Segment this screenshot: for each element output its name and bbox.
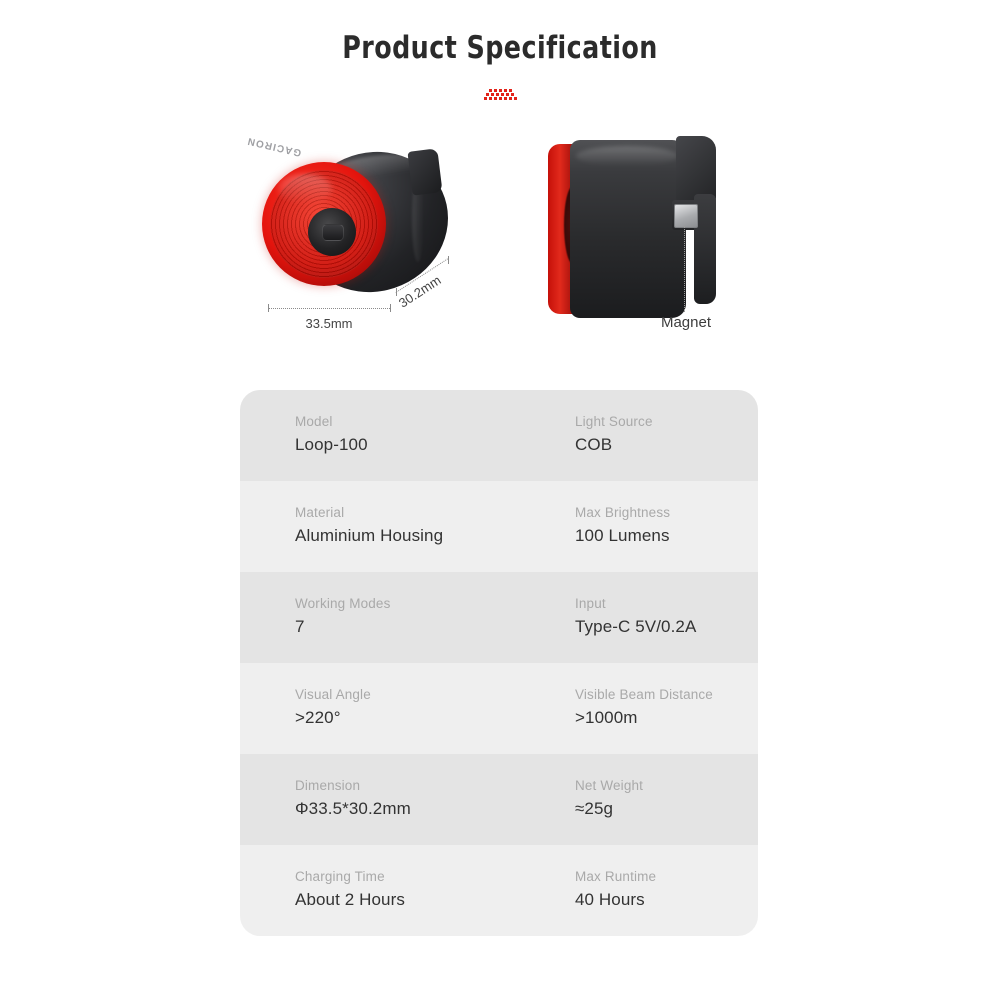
- spec-cell: Working Modes7: [240, 594, 520, 663]
- spec-cell: ModelLoop-100: [240, 412, 520, 481]
- ornament-dot: [489, 89, 492, 92]
- spec-label: Model: [295, 412, 520, 432]
- spec-cell: Visual Angle>220°: [240, 685, 520, 754]
- ornament-dot: [514, 97, 517, 100]
- depth-dimension-tick-near: [396, 288, 397, 296]
- spec-value: 100 Lumens: [575, 523, 758, 549]
- product-image-side-view: Magnet: [548, 134, 748, 324]
- spec-row: Charging TimeAbout 2 HoursMax Runtime40 …: [240, 845, 758, 936]
- spec-label: Light Source: [575, 412, 758, 432]
- spec-row: DimensionΦ33.5*30.2mmNet Weight≈25g: [240, 754, 758, 845]
- spec-value: Type-C 5V/0.2A: [575, 614, 758, 640]
- width-dimension-tick-right: [390, 304, 391, 312]
- ornament-dot: [511, 93, 514, 96]
- ornament-dot: [484, 97, 487, 100]
- ornament-dot: [504, 89, 507, 92]
- spec-cell: MaterialAluminium Housing: [240, 503, 520, 572]
- spec-value: Loop-100: [295, 432, 520, 458]
- spec-label: Dimension: [295, 776, 520, 796]
- spec-row: Visual Angle>220°Visible Beam Distance>1…: [240, 663, 758, 754]
- spec-value: Φ33.5*30.2mm: [295, 796, 520, 822]
- spec-row: ModelLoop-100Light SourceCOB: [240, 390, 758, 481]
- ornament-dot: [491, 93, 494, 96]
- ornament-dot-row: [484, 97, 517, 100]
- magnet-callout-label: Magnet: [636, 314, 736, 331]
- spec-value: 7: [295, 614, 520, 640]
- spec-cell: Max Runtime40 Hours: [520, 867, 758, 936]
- ornament-dot: [501, 93, 504, 96]
- spec-value: Aluminium Housing: [295, 523, 520, 549]
- brand-logo-text: GACIRON: [246, 135, 303, 158]
- spec-label: Working Modes: [295, 594, 520, 614]
- ornament-dot-row: [489, 89, 512, 92]
- magnet-leader-line: [684, 226, 686, 312]
- spec-cell: Net Weight≈25g: [520, 776, 758, 845]
- width-dimension-line: [268, 308, 390, 310]
- spec-value: >220°: [295, 705, 520, 731]
- spec-cell: DimensionΦ33.5*30.2mm: [240, 776, 520, 845]
- spec-cell: Visible Beam Distance>1000m: [520, 685, 758, 754]
- specification-table: ModelLoop-100Light SourceCOBMaterialAlum…: [240, 390, 758, 936]
- ornament-dot-row: [486, 93, 514, 96]
- spec-value: COB: [575, 432, 758, 458]
- spec-label: Visible Beam Distance: [575, 685, 758, 705]
- lens-gloss: [278, 174, 332, 204]
- side-body-highlight: [576, 146, 678, 166]
- width-dimension-label: 33.5mm: [268, 316, 390, 331]
- spec-row: Working Modes7InputType-C 5V/0.2A: [240, 572, 758, 663]
- ornament-dot: [509, 89, 512, 92]
- product-photo-stage: GACIRON 33.5mm 30.2mm Magnet: [0, 120, 1000, 370]
- spec-cell: Max Brightness100 Lumens: [520, 503, 758, 572]
- ornament-dot: [494, 97, 497, 100]
- ornament-dot: [486, 93, 489, 96]
- side-light-body: [570, 140, 686, 318]
- spec-label: Net Weight: [575, 776, 758, 796]
- spec-value: >1000m: [575, 705, 758, 731]
- lens-center-hub: [308, 208, 356, 256]
- spec-value: 40 Hours: [575, 887, 758, 913]
- red-dot-pyramid-ornament: [0, 89, 1000, 100]
- spec-label: Visual Angle: [295, 685, 520, 705]
- ornament-dot: [499, 89, 502, 92]
- bracket-upper: [676, 136, 716, 202]
- ornament-dot: [489, 97, 492, 100]
- page-title: Product Specification: [90, 30, 910, 66]
- spec-value: About 2 Hours: [295, 887, 520, 913]
- spec-label: Material: [295, 503, 520, 523]
- spec-label: Max Brightness: [575, 503, 758, 523]
- spec-cell: Light SourceCOB: [520, 412, 758, 481]
- ornament-dot: [496, 93, 499, 96]
- red-lens: [262, 162, 386, 286]
- magnet-chip: [674, 204, 698, 228]
- ornament-dot: [499, 97, 502, 100]
- spec-value: ≈25g: [575, 796, 758, 822]
- spec-label: Max Runtime: [575, 867, 758, 887]
- power-button-icon: [322, 224, 344, 241]
- spec-cell: InputType-C 5V/0.2A: [520, 594, 758, 663]
- ornament-dot: [494, 89, 497, 92]
- width-dimension-tick-left: [268, 304, 269, 312]
- spec-cell: Charging TimeAbout 2 Hours: [240, 867, 520, 936]
- mount-clip: [407, 148, 442, 195]
- spec-row: MaterialAluminium HousingMax Brightness1…: [240, 481, 758, 572]
- spec-label: Charging Time: [295, 867, 520, 887]
- depth-dimension-tick-far: [448, 256, 449, 264]
- ornament-dot: [509, 97, 512, 100]
- ornament-dot: [504, 97, 507, 100]
- ornament-dot: [506, 93, 509, 96]
- spec-label: Input: [575, 594, 758, 614]
